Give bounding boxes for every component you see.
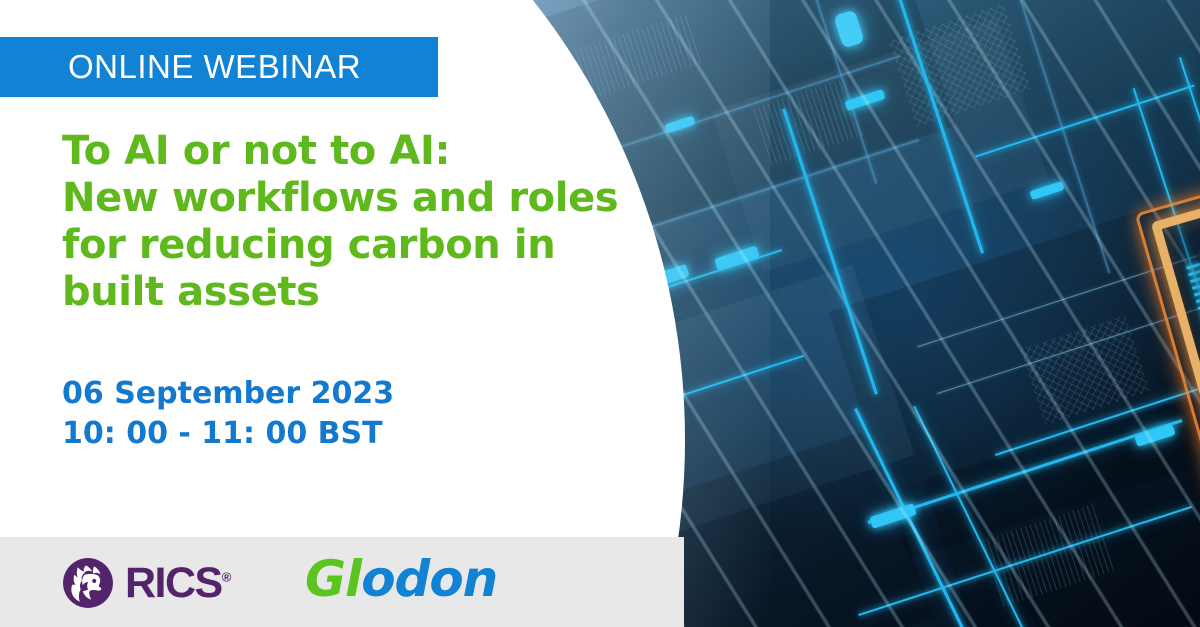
- rics-logo: RICS®: [62, 557, 231, 609]
- title-line-2: New workflows and roles: [62, 175, 622, 222]
- event-schedule: 06 September 2023 10: 00 - 11: 00 BST: [62, 374, 562, 454]
- logo-row: RICS® Glodon: [0, 537, 684, 627]
- glodon-logo: Glodon: [305, 554, 497, 604]
- title-line-3: for reducing carbon in: [62, 222, 622, 269]
- online-webinar-badge: ONLINE WEBINAR: [0, 37, 438, 97]
- rics-text: RICS: [125, 559, 222, 607]
- event-time: 10: 00 - 11: 00 BST: [62, 414, 562, 454]
- page-title: To AI or not to AI: New workflows and ro…: [62, 128, 622, 316]
- webinar-poster: Ai ONLINE WEBINAR To AI or not to AI: Ne…: [0, 0, 1200, 627]
- glodon-blue-part: odon: [361, 550, 497, 608]
- title-line-4: built assets: [62, 269, 622, 316]
- rics-wordmark: RICS®: [125, 562, 231, 605]
- rics-trademark: ®: [222, 569, 232, 584]
- glodon-green-part: Gl: [305, 550, 361, 608]
- title-line-1: To AI or not to AI:: [62, 128, 622, 175]
- rics-lion-icon: [62, 557, 114, 609]
- event-date: 06 September 2023: [62, 374, 562, 414]
- badge-label: ONLINE WEBINAR: [68, 48, 361, 86]
